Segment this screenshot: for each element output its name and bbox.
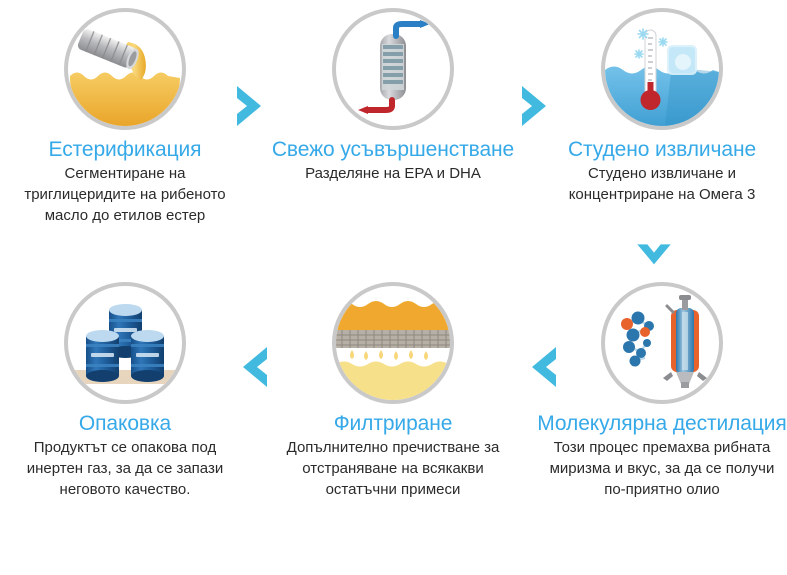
step-description: Този процес премахва рибната миризма и в… — [537, 437, 787, 500]
distillation-column-graphic — [336, 12, 450, 126]
step-icon-wrapper — [64, 8, 186, 130]
step-icon-wrapper — [332, 8, 454, 130]
thermometer-cold-water-icon — [601, 8, 723, 130]
step-icon-wrapper — [601, 282, 723, 404]
step-icon-wrapper — [601, 8, 723, 130]
step-title: Студено извличане — [537, 137, 787, 162]
step-icon-wrapper — [332, 282, 454, 404]
process-step-esterification: Естерификация Сегментиране на триглицери… — [0, 8, 250, 226]
thermometer-cold-water-graphic — [605, 12, 719, 126]
step-title: Свежо усъвършенстване — [268, 137, 518, 162]
step-description: Студено извличане и концентриране на Оме… — [537, 163, 787, 205]
distillation-column-icon — [332, 8, 454, 130]
chevron-left-icon — [522, 343, 562, 391]
process-step-packaging: Опаковка Продуктът се опакова под инерте… — [0, 282, 250, 500]
step-description: Сегментиране на триглицеридите на рибено… — [0, 163, 250, 226]
blue-barrels-icon — [64, 282, 186, 404]
process-step-fresh-refining: Свежо усъвършенстване Разделяне на EPA и… — [268, 8, 518, 184]
process-step-molecular-distillation: Молекулярна дестилация Този процес према… — [537, 282, 787, 500]
step-title: Молекулярна дестилация — [537, 411, 787, 436]
step-description: Разделяне на EPA и DHA — [268, 163, 518, 184]
step-title: Естерификация — [0, 137, 250, 162]
chevron-left-icon — [233, 343, 273, 391]
process-step-filtration: Филтриране Допълнително пречистване за о… — [268, 282, 518, 500]
process-step-cold-extraction: Студено извличане Студено извличане и ко… — [537, 8, 787, 205]
process-flow-infographic: Естерификация Сегментиране на триглицери… — [0, 0, 787, 575]
filter-membrane-graphic — [336, 286, 450, 400]
chevron-right-icon — [231, 82, 271, 130]
blue-barrels-graphic — [68, 286, 182, 400]
molecules-reactor-icon — [601, 282, 723, 404]
step-title: Филтриране — [268, 411, 518, 436]
chevron-down-icon — [634, 232, 674, 280]
filter-membrane-icon — [332, 282, 454, 404]
oil-pipe-pour-graphic — [68, 12, 182, 126]
molecules-reactor-graphic — [605, 286, 719, 400]
step-title: Опаковка — [0, 411, 250, 436]
oil-pipe-pour-icon — [64, 8, 186, 130]
chevron-right-icon — [516, 82, 556, 130]
step-icon-wrapper — [64, 282, 186, 404]
step-description: Допълнително пречистване за отстраняване… — [268, 437, 518, 500]
step-description: Продуктът се опакова под инертен газ, за… — [0, 437, 250, 500]
